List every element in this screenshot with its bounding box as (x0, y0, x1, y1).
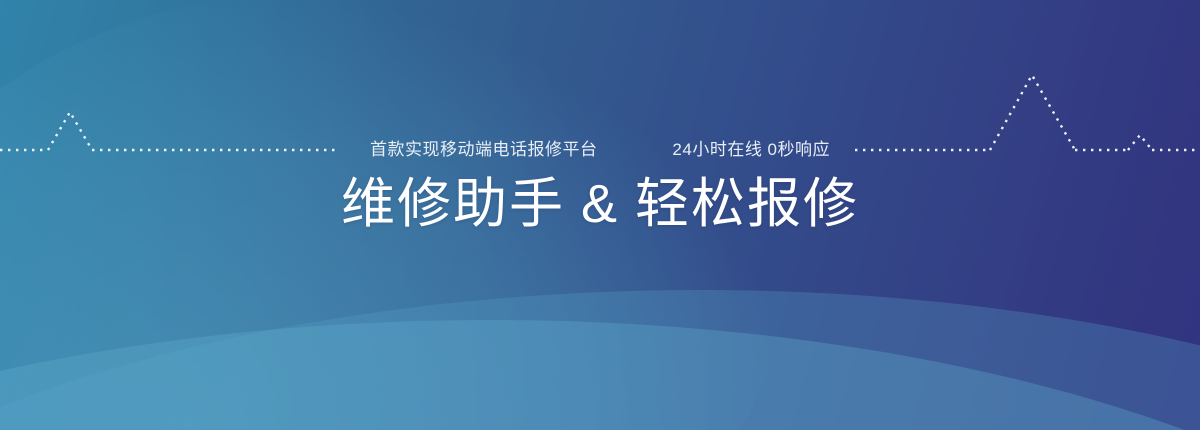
title-right: 轻松报修 (635, 174, 859, 234)
subtitle-right: 24小时在线 0秒响应 (672, 135, 830, 165)
subtitle-left: 首款实现移动端电话报修平台 (370, 135, 598, 165)
title-separator: & (565, 174, 635, 234)
wave-shape-back (0, 290, 1200, 430)
wave-shape-front (0, 320, 1200, 430)
title-left: 维修助手 (341, 174, 565, 234)
subtitle-row: 首款实现移动端电话报修平台 24小时在线 0秒响应 (0, 135, 1200, 165)
hero-banner: 首款实现移动端电话报修平台 24小时在线 0秒响应 维修助手&轻松报修 (0, 0, 1200, 430)
page-title: 维修助手&轻松报修 (0, 172, 1200, 236)
